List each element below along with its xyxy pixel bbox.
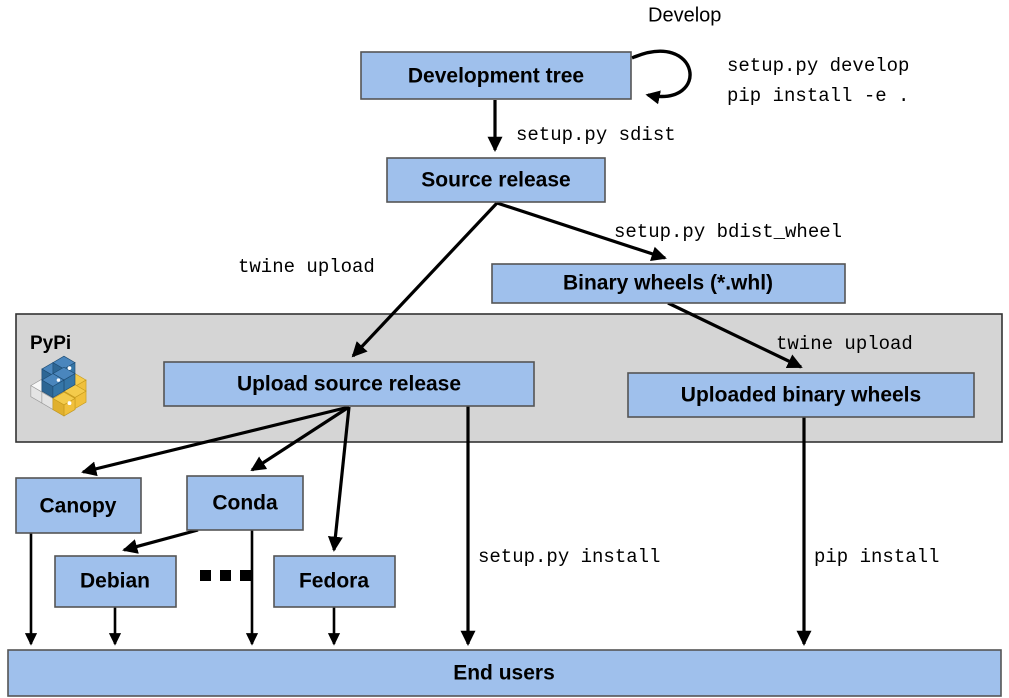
node-binary-wheels-label: Binary wheels (*.whl) <box>563 272 773 295</box>
node-fedora[interactable]: Fedora <box>274 556 395 607</box>
edge-label-pip-install-editable: pip install -e . <box>727 85 909 107</box>
node-end-users-label: End users <box>453 662 555 685</box>
node-end-users[interactable]: End users <box>8 650 1001 696</box>
packaging-flow-diagram: PyPi <box>0 0 1009 698</box>
edge-label-setup-bdist-wheel: setup.py bdist_wheel <box>614 221 842 243</box>
edge-label-setup-sdist: setup.py sdist <box>516 124 676 146</box>
edge-label-twine-upload-source: twine upload <box>238 256 375 278</box>
node-fedora-label: Fedora <box>299 570 369 593</box>
node-debian[interactable]: Debian <box>55 556 176 607</box>
node-conda-label: Conda <box>212 492 278 515</box>
node-uploaded-binary-wheels-label: Uploaded binary wheels <box>681 384 921 407</box>
node-upload-source-release-label: Upload source release <box>237 373 461 396</box>
node-development-tree[interactable]: Development tree <box>361 52 631 99</box>
node-conda[interactable]: Conda <box>187 476 303 530</box>
node-canopy-label: Canopy <box>39 495 116 518</box>
pypi-group-label: PyPi <box>30 333 71 354</box>
ellipsis-marker <box>200 570 251 581</box>
node-source-release-label: Source release <box>421 169 570 192</box>
node-canopy[interactable]: Canopy <box>16 478 141 533</box>
edge-label-setup-develop: setup.py develop <box>727 55 909 77</box>
node-binary-wheels[interactable]: Binary wheels (*.whl) <box>492 264 845 303</box>
edge-label-develop: Develop <box>648 4 721 26</box>
node-development-tree-label: Development tree <box>408 65 584 88</box>
node-source-release[interactable]: Source release <box>387 158 605 202</box>
edge-develop-self-loop <box>632 51 690 96</box>
diagram-canvas: PyPi <box>0 0 1009 698</box>
edge-label-twine-upload-wheels: twine upload <box>776 333 913 355</box>
node-debian-label: Debian <box>80 570 150 593</box>
node-upload-source-release[interactable]: Upload source release <box>164 362 534 406</box>
edge-label-setup-install: setup.py install <box>478 546 660 568</box>
edge-label-pip-install: pip install <box>814 546 939 568</box>
node-uploaded-binary-wheels[interactable]: Uploaded binary wheels <box>628 373 974 417</box>
